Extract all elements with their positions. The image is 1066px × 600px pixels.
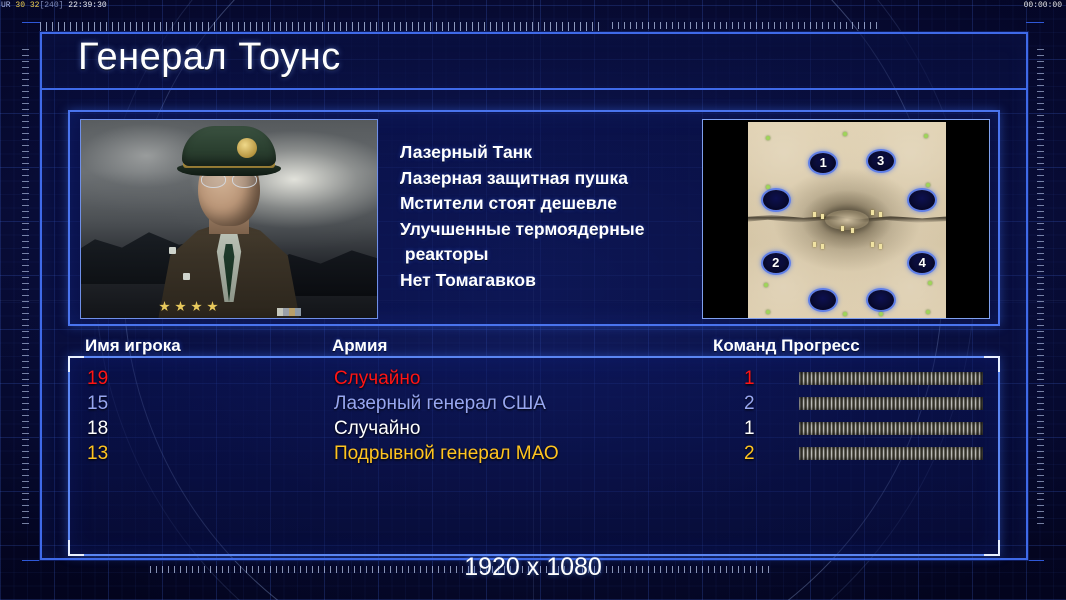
cell-team[interactable]: 2 [744, 391, 755, 417]
status-value-a: 30 [15, 1, 25, 10]
map-start-position-1[interactable]: 1 [810, 153, 836, 173]
officer-cap [182, 126, 276, 166]
column-header-player: Имя игрока [85, 336, 181, 356]
map-start-position-2[interactable]: 3 [868, 151, 894, 171]
cell-team[interactable]: 1 [744, 416, 755, 442]
status-bar-left: UR 30 32[240] 22:39:30 [1, 0, 107, 11]
cell-player-name: 19 [87, 366, 108, 392]
map-start-position-5[interactable]: 2 [763, 253, 789, 273]
cell-army[interactable]: Случайно [334, 366, 420, 392]
table-row[interactable]: 18Случайно1 [70, 416, 1002, 442]
map-terrain: 1324 [748, 122, 946, 318]
status-label-ur: UR [1, 1, 11, 10]
map-supply-5 [813, 242, 816, 247]
map-supply-6 [821, 244, 824, 249]
ruler-right [1037, 44, 1044, 524]
map-resource-11 [879, 312, 883, 316]
cell-progress-bar [799, 422, 983, 435]
cell-army[interactable]: Лазерный генерал США [334, 391, 546, 417]
frame-tick-tl [22, 22, 40, 23]
map-start-position-7[interactable] [810, 290, 836, 310]
map-supply-9 [841, 226, 844, 231]
ruler-top-right [612, 22, 882, 29]
ruler-left [22, 44, 29, 524]
map-start-position-3[interactable] [763, 190, 789, 210]
cap-insignia-icon [237, 138, 257, 158]
general-portrait [80, 119, 378, 319]
status-value-b: 32 [30, 1, 40, 10]
map-supply-2 [821, 214, 824, 219]
table-row[interactable]: 15Лазерный генерал США2 [70, 391, 1002, 417]
map-resource-2 [843, 132, 847, 136]
map-resource-7 [928, 281, 932, 285]
collar-pin-1 [169, 247, 176, 254]
map-resource-10 [926, 310, 930, 314]
status-bar: UR 30 32[240] 22:39:30 00:00:00 [0, 0, 1066, 11]
cell-army[interactable]: Случайно [334, 416, 420, 442]
general-bonus-list: Лазерный Танк Лазерная защитная пушка Мс… [400, 140, 730, 293]
cell-player-name: 15 [87, 391, 108, 417]
player-list-panel: 19Случайно115Лазерный генерал США218Случ… [68, 356, 1000, 556]
page-title: Генерал Тоунс [78, 36, 341, 79]
map-supply-3 [871, 210, 874, 215]
resolution-label: 1920 x 1080 [0, 553, 1066, 582]
cell-player-name: 18 [87, 416, 108, 442]
cell-army[interactable]: Подрывной генерал МАО [334, 441, 559, 467]
map-center-feature [825, 210, 869, 230]
table-row[interactable]: 19Случайно1 [70, 366, 1002, 392]
map-start-position-6[interactable]: 4 [909, 253, 935, 273]
service-ribbons [277, 308, 301, 316]
map-start-position-4[interactable] [909, 190, 935, 210]
status-clock-right: 00:00:00 [1024, 0, 1062, 11]
status-clock-left: 22:39:30 [68, 1, 106, 10]
map-resource-8 [766, 310, 770, 314]
map-start-position-8[interactable] [868, 290, 894, 310]
general-info-panel: Лазерный Танк Лазерная защитная пушка Мс… [68, 110, 1000, 326]
map-resource-5 [926, 183, 930, 187]
cell-progress-bar [799, 372, 983, 385]
map-resource-6 [764, 283, 768, 287]
map-resource-3 [924, 134, 928, 138]
map-preview[interactable]: 1324 [702, 119, 990, 319]
game-lobby-screen: UR 30 32[240] 22:39:30 00:00:00 Генерал … [0, 0, 1066, 600]
map-supply-10 [851, 228, 854, 233]
cell-player-name: 13 [87, 441, 108, 467]
status-value-bracket: [240] [39, 1, 63, 10]
cell-progress-bar [799, 447, 983, 460]
map-supply-8 [879, 244, 882, 249]
map-resource-9 [843, 312, 847, 316]
column-header-army: Армия [332, 336, 387, 356]
table-row[interactable]: 13Подрывной генерал МАО2 [70, 441, 1002, 467]
map-supply-7 [871, 242, 874, 247]
cell-team[interactable]: 2 [744, 441, 755, 467]
general-figure [131, 166, 327, 318]
ruler-top-left [40, 22, 600, 31]
collar-pin-2 [183, 273, 190, 280]
map-resource-1 [766, 136, 770, 140]
map-supply-1 [813, 212, 816, 217]
map-supply-4 [879, 212, 882, 217]
column-header-team-progress: Команд Прогресс [713, 336, 860, 356]
rank-stars [159, 300, 233, 312]
cell-progress-bar [799, 397, 983, 410]
frame-tick-tr [1026, 22, 1044, 23]
cell-team[interactable]: 1 [744, 366, 755, 392]
map-resource-4 [766, 185, 770, 189]
